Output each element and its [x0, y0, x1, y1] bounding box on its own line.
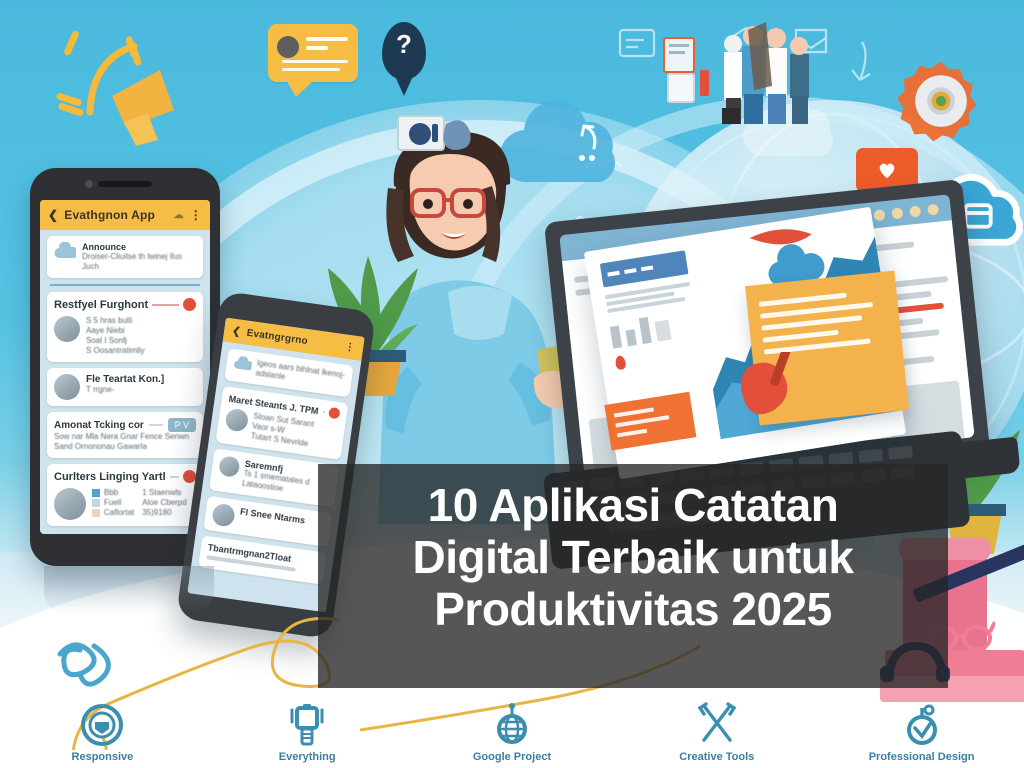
title-line-1: 10 Aplikasi Catatan [330, 480, 936, 532]
notice-card[interactable]: Announce Droiser-Cliuilse th lwinej Ilus… [47, 236, 203, 278]
section-card-curlters[interactable]: Curlters Linging Yartl Bbb Fuell Caflort… [47, 464, 203, 526]
location-pin-question-icon: ? [382, 22, 426, 80]
featured-image-canvas: ? [0, 0, 1024, 768]
section-heading: Curlters Linging Yartl [54, 471, 166, 483]
footer-label: Google Project [473, 751, 551, 763]
pin-question-glyph: ? [382, 31, 426, 57]
cloud-icon [233, 355, 253, 372]
app-title: Evatngrgrno [246, 327, 340, 351]
card-heading: Fl Snee Ntarms [238, 507, 325, 541]
documents-decoration [658, 26, 734, 106]
notice-body: Droiser-Cliuilse th lwinej Ilus Juch [82, 252, 196, 272]
stat-value: Aloe Cberpd [142, 498, 186, 508]
section-line: Sow nar Mla Nera Gnar Fence Senwn [54, 432, 196, 442]
phone-camera-icon [85, 180, 93, 188]
globe-network-icon [489, 702, 535, 748]
footer-label: Creative Tools [679, 751, 754, 763]
app-title: Evathgnon App [64, 208, 167, 222]
window-dot[interactable] [927, 203, 939, 215]
people-group-illustration [718, 12, 838, 142]
footer-item-responsive[interactable]: Responsive [0, 702, 205, 768]
avatar [54, 488, 86, 520]
legend-label: Caflortat [104, 508, 134, 518]
section-heading: Fle Teartat Kon.] [86, 374, 196, 385]
title-line-3: Produktivitas 2025 [330, 584, 936, 636]
footer-label: Everything [279, 751, 336, 763]
hand-with-pen-illustration [740, 352, 810, 432]
section-line: Soal I Sonfj [86, 336, 196, 346]
window-dot[interactable] [873, 209, 885, 221]
section-line: T rrgne- [86, 385, 196, 395]
section-line: Aaye Niebi [86, 326, 196, 336]
device-clipboard-icon [284, 702, 330, 748]
avatar [54, 374, 80, 400]
section-heading: Amonat Tcking cor [54, 420, 144, 431]
cloud-icon[interactable]: ☁ [174, 210, 184, 221]
avatar [211, 503, 236, 528]
alert-badge-icon [183, 298, 196, 311]
section-card-amonat[interactable]: Amonat Tcking cor P V Sow nar Mla Nera G… [47, 412, 203, 458]
status-pill: P V [168, 418, 196, 432]
footer-item-professional-design[interactable]: Professional Design [819, 702, 1024, 768]
timer-check-icon [899, 702, 945, 748]
chat-circle-icon [79, 702, 125, 748]
footer-item-creative-tools[interactable]: Creative Tools [614, 702, 819, 768]
phone-reflection [44, 566, 214, 614]
section-card-fle-teartat[interactable]: Fle Teartat Kon.] T rrgne- [47, 368, 203, 406]
section-line: Sand Ornononau Gawarla [54, 442, 196, 452]
stat-value: 1 Staenwls [142, 488, 186, 498]
bubble-avatar-icon [277, 36, 299, 58]
phone-speaker [98, 181, 152, 187]
window-dot[interactable] [909, 205, 921, 217]
more-vertical-icon[interactable]: ⋮ [190, 208, 202, 222]
legend-label: Bbb [104, 488, 118, 498]
avatar [218, 455, 241, 478]
chevron-left-icon[interactable]: ❮ [48, 208, 58, 222]
cloud-upload-icon [54, 242, 76, 260]
legend-label: Fuell [104, 498, 121, 508]
footer-item-google-project[interactable]: Google Project [410, 702, 615, 768]
footer-item-everything[interactable]: Everything [205, 702, 410, 768]
megaphone-icon [108, 66, 194, 148]
speech-bubble-yellow-icon [268, 24, 358, 82]
window-dot[interactable] [891, 207, 903, 219]
chevron-left-icon[interactable]: ❮ [232, 325, 242, 337]
alert-badge-icon [328, 407, 340, 419]
avatar [224, 408, 249, 433]
phone-app-bar: ❮ Evathgnon App ☁ ⋮ [40, 200, 210, 230]
scissors-arrow-icon [694, 702, 740, 748]
more-vertical-icon[interactable]: ⋮ [344, 341, 356, 353]
section-heading: Restfyel Furghont [54, 299, 148, 311]
footer-feature-strip: Responsive Everything Google Project [0, 702, 1024, 768]
gear-icon [898, 58, 984, 144]
footer-label: Responsive [72, 751, 134, 763]
section-line: S Oosantratimlly [86, 346, 196, 356]
avatar [54, 316, 80, 342]
section-card-restfyel[interactable]: Restfyel Furghont S 5 hras bulli Aaye Ni… [47, 292, 203, 362]
notice-heading: Announce [82, 242, 196, 252]
section-line: S 5 hras bulli [86, 316, 196, 326]
list-item[interactable]: Maret Steants J. TPM Stoan Sut Sarant Va… [216, 386, 349, 460]
notice-body: Igeos aars bihlnat lkenoj-adslanle [255, 358, 346, 390]
phone-primary-screen: ❮ Evathgnon App ☁ ⋮ Announce Droiser-Cli… [40, 200, 210, 534]
page-title: 10 Aplikasi Catatan Digital Terbaik untu… [330, 480, 936, 636]
stat-value: 35)9180 [142, 508, 186, 518]
title-line-2: Digital Terbaik untuk [330, 532, 936, 584]
footer-label: Professional Design [869, 751, 975, 763]
